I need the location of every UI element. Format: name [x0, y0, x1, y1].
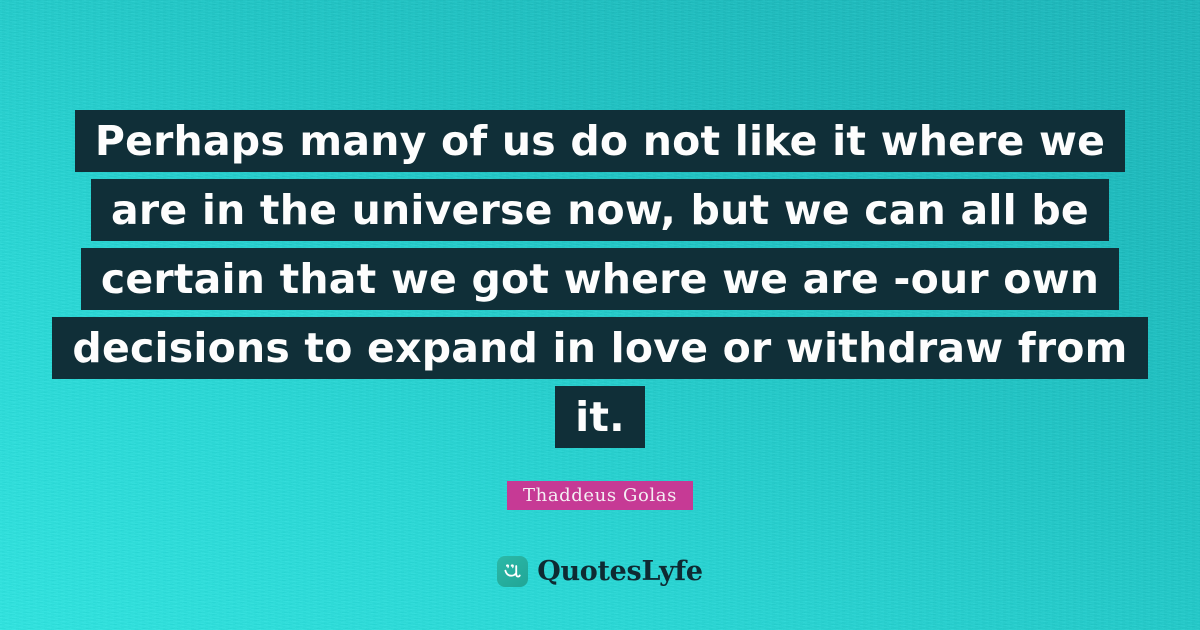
- author-attribution: Thaddeus Golas: [0, 481, 1200, 510]
- quote-line: are in the universe now, but we can all …: [0, 179, 1200, 241]
- quote-line: certain that we got where we are -our ow…: [0, 248, 1200, 310]
- author-name-badge: Thaddeus Golas: [507, 481, 693, 510]
- quote-line: decisions to expand in love or withdraw …: [0, 317, 1200, 379]
- quote-card-content: Perhaps many of us do not like it where …: [0, 0, 1200, 630]
- quote-line: Perhaps many of us do not like it where …: [0, 110, 1200, 172]
- quote-line-text: are in the universe now, but we can all …: [91, 179, 1109, 241]
- quote-line: it.: [0, 386, 1200, 448]
- quote-text-block: Perhaps many of us do not like it where …: [0, 110, 1200, 455]
- quote-line-text: Perhaps many of us do not like it where …: [75, 110, 1125, 172]
- quote-line-text: certain that we got where we are -our ow…: [81, 248, 1119, 310]
- brand-name-text: QuotesLyfe: [537, 556, 703, 587]
- brand-logo: QuotesLyfe: [0, 556, 1200, 587]
- quote-line-text: decisions to expand in love or withdraw …: [52, 317, 1147, 379]
- quote-smiley-icon: [497, 556, 528, 587]
- quote-card: Perhaps many of us do not like it where …: [0, 0, 1200, 630]
- quote-line-text: it.: [555, 386, 645, 448]
